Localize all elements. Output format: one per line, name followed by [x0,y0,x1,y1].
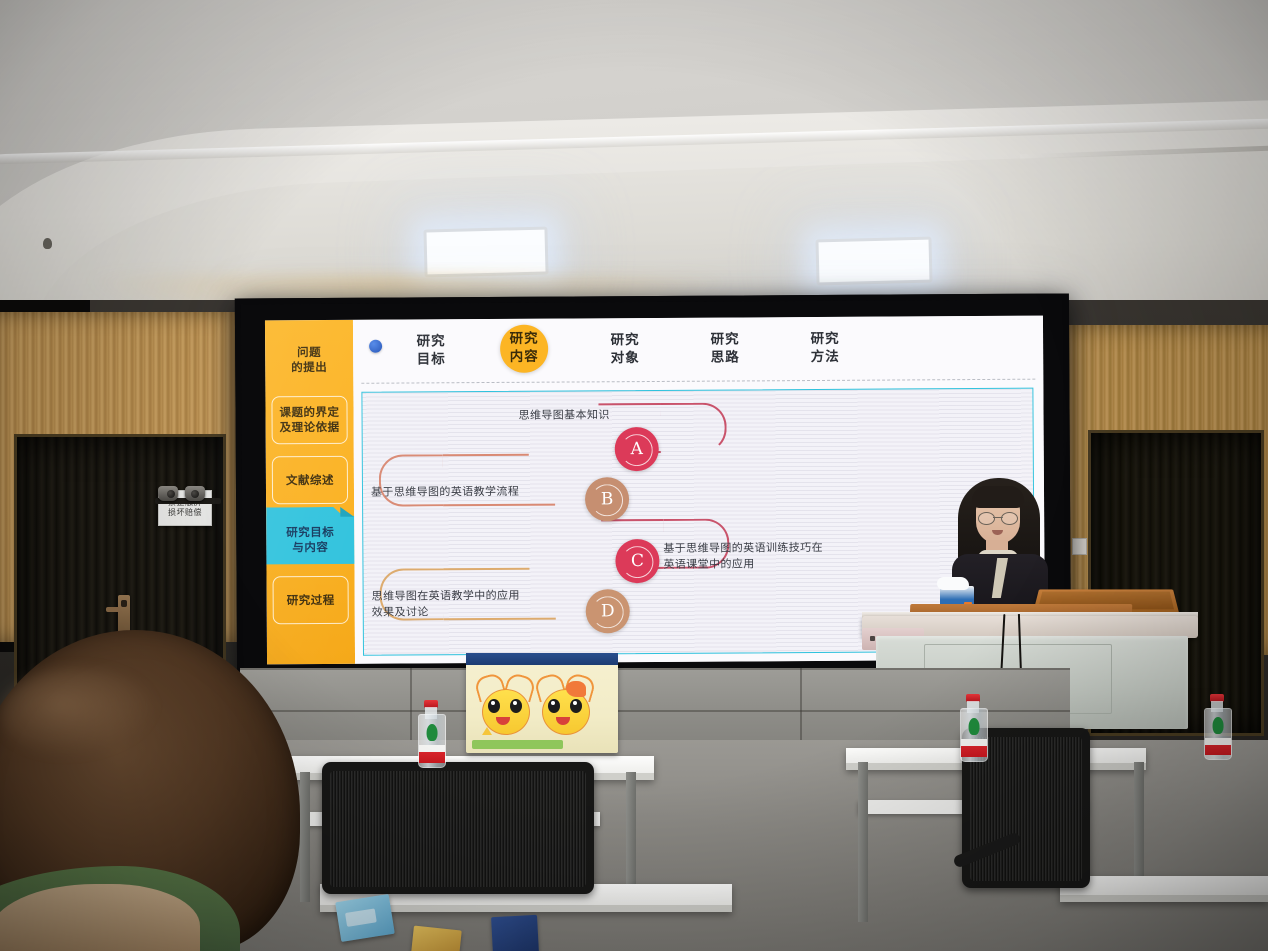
cabinet-seam [240,710,1070,712]
content-caption-c: 基于思维导图的英语训练技巧在 英语课堂中的应用 [663,540,873,573]
sidebar-item-label: 文献综述 [286,473,334,488]
content-bubble-a[interactable]: A [615,427,659,471]
water-bottle-far-right[interactable] [1204,694,1230,760]
bullet-dot-icon [369,340,382,353]
caption-line-1: 思维导图在英语教学中的应用 [372,589,520,603]
mascot-eye-icon [570,699,582,713]
sidebar-item-label: 课题的界定 [279,405,339,420]
ceiling-light-panel-right [815,237,932,286]
tab-research-goal[interactable]: 研究 目标 [400,329,462,372]
presenter-fringe [972,486,1024,508]
desk-edge [1060,895,1268,902]
content-caption-b: 基于思维导图的英语教学流程 [371,484,519,501]
tab-label: 研究 [510,331,539,349]
tote-bag-green-band [472,740,563,749]
ceiling-light-panel-left [423,226,548,277]
tab-label: 方法 [794,348,856,366]
bottle-green-mark [969,718,980,736]
connector-tail [598,403,660,406]
light-switch-plate[interactable] [1072,538,1087,555]
water-bottle-center[interactable] [418,700,444,768]
bottle-body [960,708,988,762]
mascot-icon-left [476,675,534,737]
desk-card-navy[interactable] [491,915,539,951]
connector-tail [443,504,555,507]
bottle-label [419,745,445,763]
slide-sidebar: 问题 的提出 课题的界定 及理论依据 文献综述 研究目标 与内容 研究过程 [265,320,355,665]
tab-research-method[interactable]: 研究 方法 [794,327,856,370]
bottle-label [1205,738,1231,755]
bottle-label [961,739,987,757]
glasses-lens-right [1001,512,1018,525]
mascot-icon-right [536,675,594,737]
tab-research-content[interactable]: 研究 内容 [500,325,548,373]
tab-label: 目标 [400,351,462,369]
mascot-crest-icon [566,681,586,697]
desk-card-gold[interactable] [410,926,462,951]
tab-label: 研究 [400,333,462,351]
content-bubble-d[interactable]: D [586,589,630,633]
left-door-lock-icon [121,600,127,607]
content-caption-d: 思维导图在英语教学中的应用 效果及讨论 [372,588,552,621]
tab-research-approach[interactable]: 研究 思路 [694,327,756,370]
sidebar-item-label: 研究过程 [287,593,335,608]
lectern-top-surface [862,616,1198,638]
connector-hook-a [660,403,726,453]
desk-right-front [1060,876,1268,902]
content-bubble-c[interactable]: C [615,539,659,583]
hair-highlight [0,668,158,758]
cartoon-tote-bag [466,661,618,753]
tissue-sheet [937,577,969,590]
sidebar-item-label: 及理论依据 [280,420,340,435]
bottle-body [418,714,446,768]
camera-icon-left [158,486,178,501]
glasses-icon [978,512,1018,523]
camera-icon-right [185,486,205,501]
caption-line-1: 基于思维导图的英语训练技巧在 [663,541,823,555]
ceiling-sprinkler-icon [43,238,52,249]
door-sign-line-2: 损坏赔偿 [168,508,202,518]
tab-label: 内容 [510,349,539,367]
mascot-eye-icon [548,699,560,713]
glasses-lens-left [978,512,995,525]
control-button-icon[interactable] [870,636,875,641]
tote-bag-contents [466,653,618,665]
sidebar-item-process[interactable]: 研究过程 [273,576,349,624]
desk-card-blue[interactable] [335,894,395,942]
bottle-body [1204,708,1232,760]
content-bubble-b[interactable]: B [585,477,629,521]
content-caption-a: 思维导图基本知识 [518,407,609,423]
sidebar-item-label: 与内容 [292,540,328,555]
desk-leg [300,772,310,902]
sidebar-item-problem[interactable]: 问题 的提出 [271,340,347,380]
mascot-eye-icon [488,699,500,713]
divider-dashed [361,379,1035,384]
tab-research-subject[interactable]: 研究 对象 [594,328,656,371]
water-bottle-right[interactable] [960,694,986,762]
sidebar-item-label: 的提出 [291,360,327,375]
desk-leg [1134,762,1144,892]
star-icon [482,727,492,735]
chair-mesh-panel [330,771,586,887]
sidebar-item-goal-content[interactable]: 研究目标 与内容 [266,516,354,565]
tab-label: 研究 [594,332,656,350]
tab-label: 研究 [694,331,756,349]
desk-leg [626,772,636,892]
bottle-green-mark [1213,717,1224,734]
connector-tail [443,454,529,457]
tab-label: 研究 [794,331,856,349]
mascot-eye-icon [510,699,522,713]
cabinet-seam [240,668,1070,670]
camera-lens-icon [191,490,199,498]
desk-leg [858,762,868,922]
caption-line-2: 英语课堂中的应用 [663,557,754,571]
chair-center[interactable] [322,762,594,894]
wall-camera-mount [155,486,221,508]
classroom-photo: 禁止触屏 损坏赔偿 问题 的提出 课题的界定 及理论依据 文献综述 [0,0,1268,951]
sidebar-item-label: 研究目标 [286,525,334,540]
tab-label: 思路 [694,349,756,367]
sidebar-item-literature[interactable]: 文献综述 [272,456,348,504]
sidebar-item-label: 问题 [297,345,321,360]
sidebar-item-definition[interactable]: 课题的界定 及理论依据 [271,396,347,444]
slide-topnav: 研究 目标 研究 内容 研究 对象 研究 思路 [353,326,1043,378]
tab-label: 对象 [594,350,656,368]
foreground-person-scarf [0,884,200,951]
caption-line-2: 效果及讨论 [372,605,429,618]
bottle-green-mark [427,724,438,742]
chair-backrest [322,762,594,894]
ceiling [0,0,1268,330]
camera-lens-icon [167,490,175,498]
connector-tail [443,568,529,571]
